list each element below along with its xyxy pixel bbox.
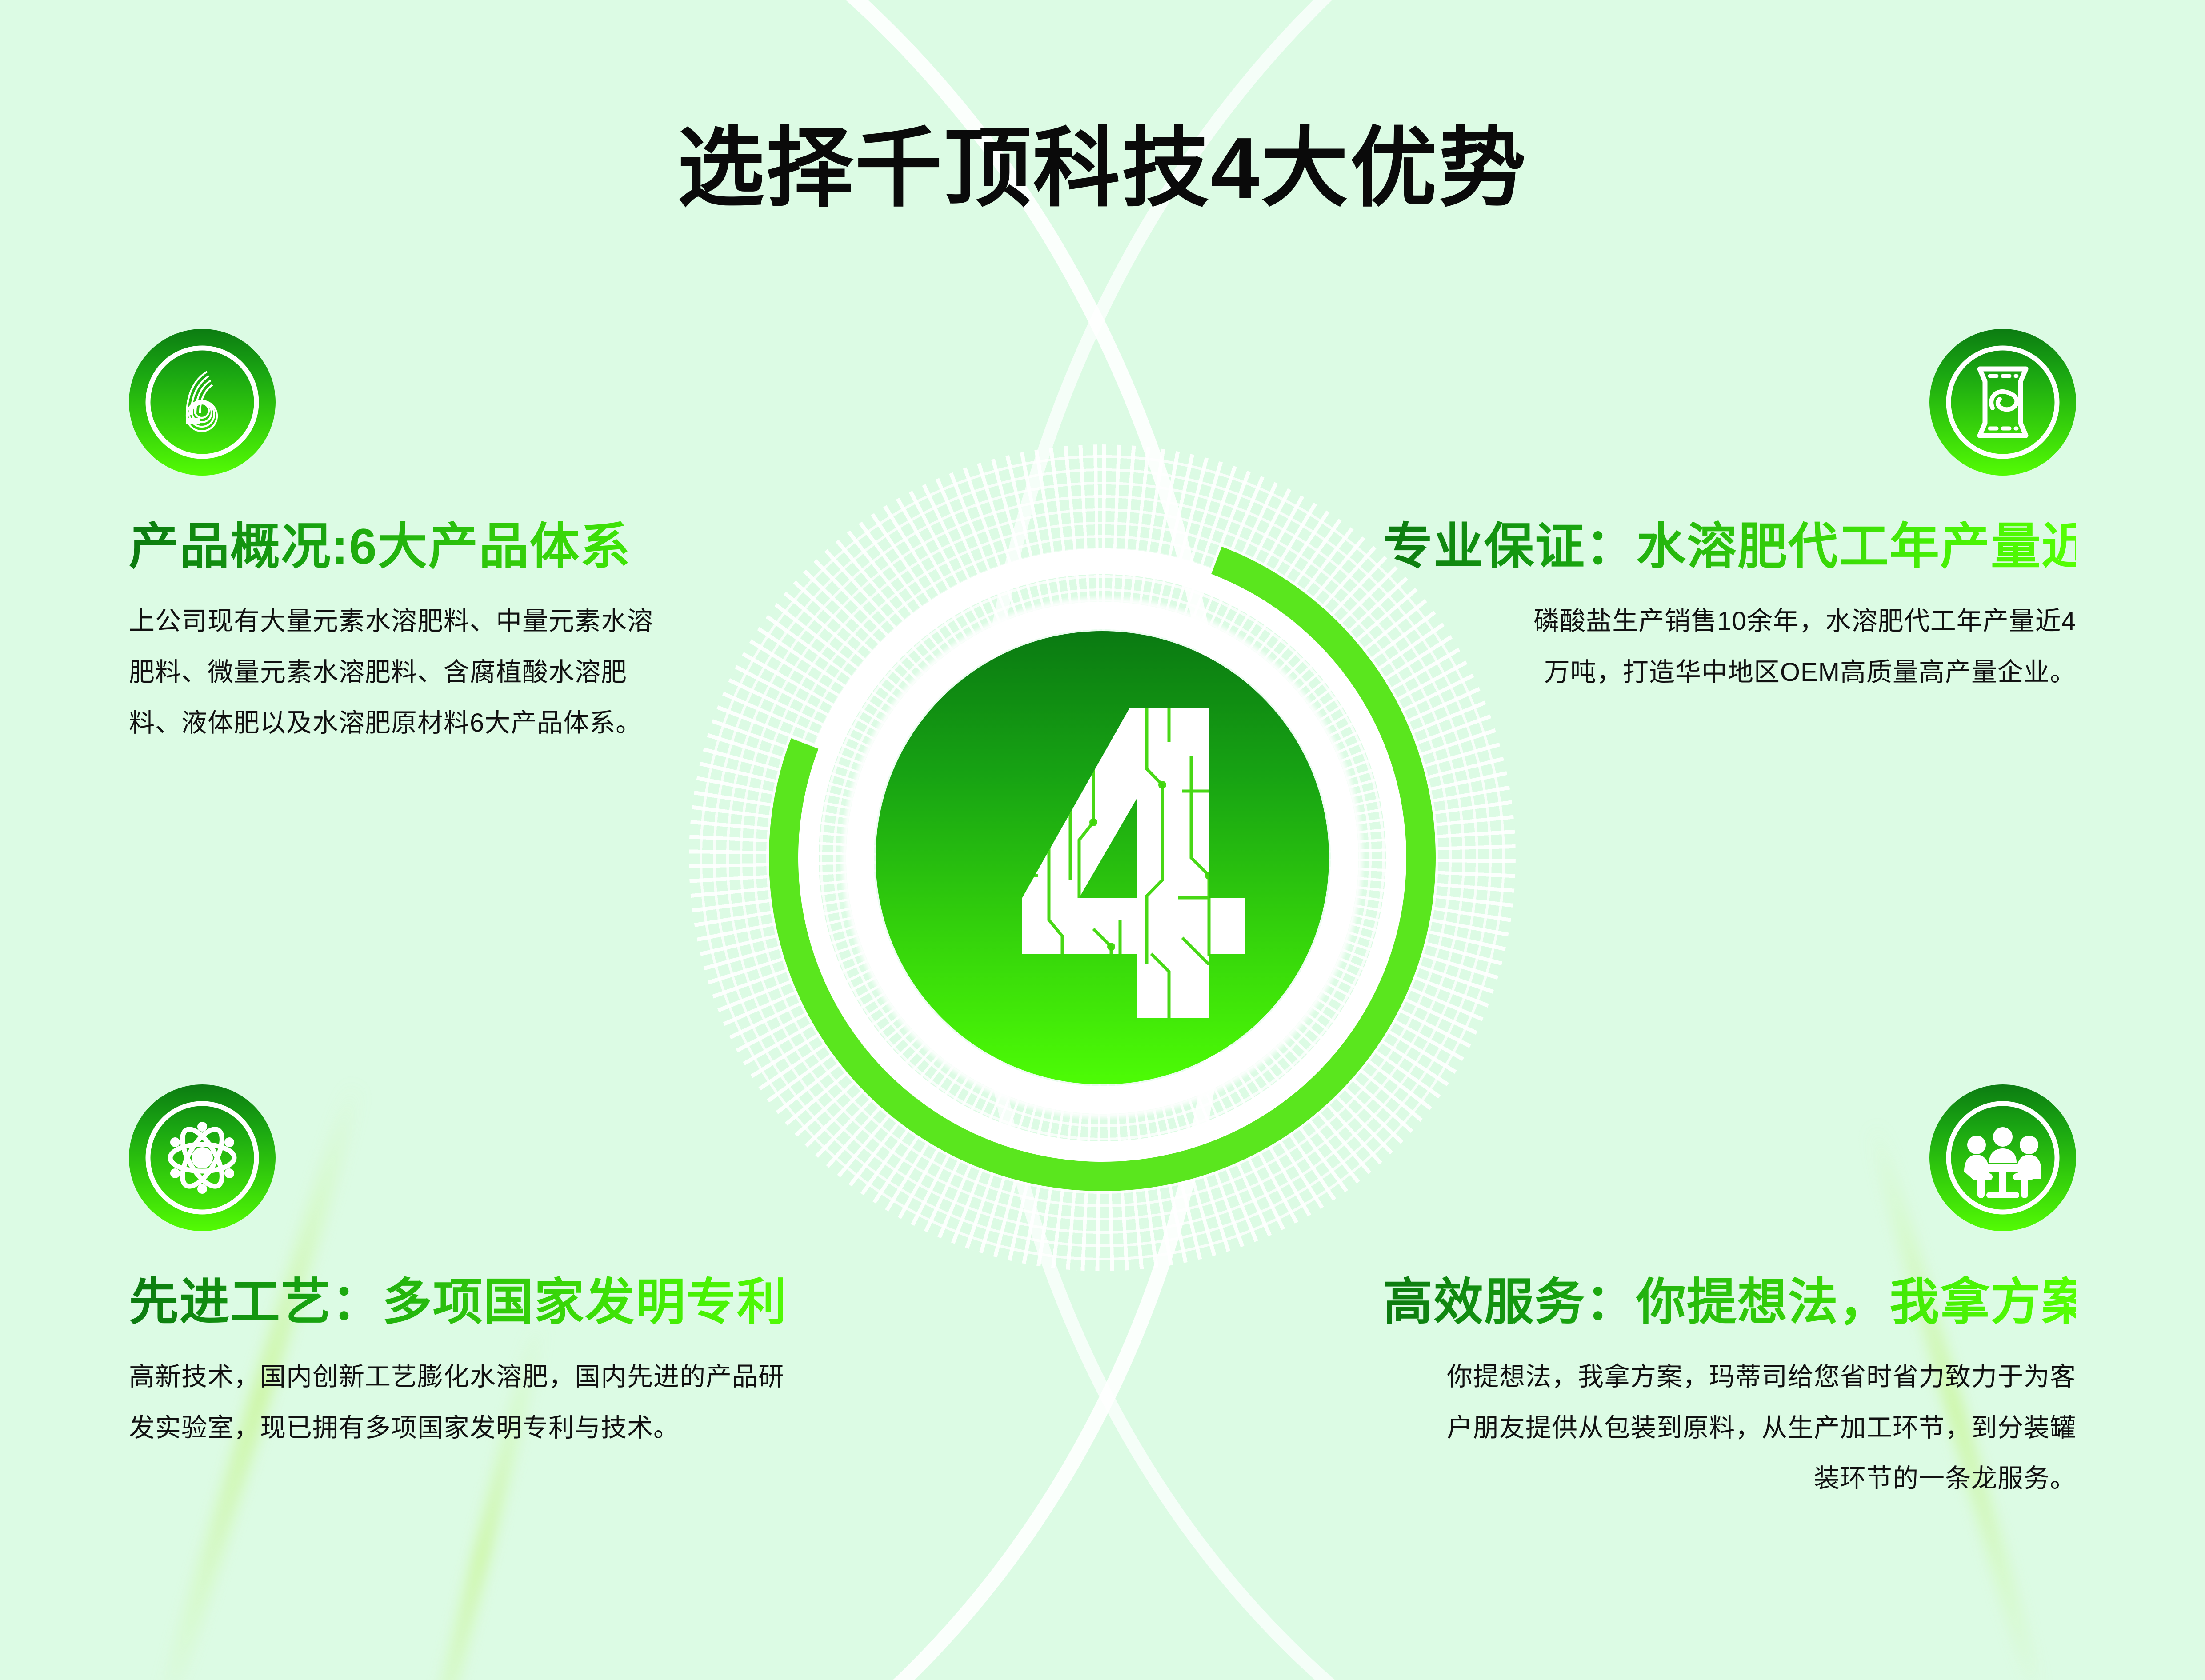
advantage-card-service: 高效服务：你提想法，我拿方案 你提想法，我拿方案，玛蒂司给您省时省力致力于为客户… xyxy=(1383,1084,2076,1504)
advantage-body: 上公司现有大量元素水溶肥料、中量元素水溶肥料、微量元素水溶肥料、含腐植酸水溶肥料… xyxy=(129,596,676,749)
fertilizer-bag-icon xyxy=(1929,329,2076,476)
advantage-card-technology: 先进工艺：多项国家发明专利 高新技术，国内创新工艺膨化水溶肥，国内先进的产品研发… xyxy=(129,1084,822,1453)
advantage-body: 磷酸盐生产销售10余年，水溶肥代工年产量近4万吨，打造华中地区OEM高质量高产量… xyxy=(1529,596,2076,698)
number-six-rings-icon xyxy=(129,329,276,476)
advantage-card-product-overview: 产品概况:6大产品体系 上公司现有大量元素水溶肥料、中量元素水溶肥料、微量元素水… xyxy=(129,329,822,749)
advantage-card-capacity: 专业保证：水溶肥代工年产量近4万吨 磷酸盐生产销售10余年，水溶肥代工年产量近4… xyxy=(1383,329,2076,698)
advantage-heading: 专业保证：水溶肥代工年产量近4万吨 xyxy=(1383,518,2076,576)
advantage-body: 你提想法，我拿方案，玛蒂司给您省时省力致力于为客户朋友提供从包装到原料，从生产加… xyxy=(1432,1352,2076,1504)
center-circle xyxy=(876,631,1329,1084)
meeting-people-icon xyxy=(1929,1084,2076,1231)
advantage-heading: 先进工艺：多项国家发明专利 xyxy=(129,1274,822,1331)
advantage-heading: 产品概况:6大产品体系 xyxy=(129,518,822,576)
advantage-heading: 高效服务：你提想法，我拿方案 xyxy=(1383,1274,2076,1331)
center-number-four-icon xyxy=(960,689,1245,1027)
atom-icon xyxy=(129,1084,276,1231)
page-title: 选择千顶科技4大优势 xyxy=(677,98,1528,224)
advantage-body: 高新技术，国内创新工艺膨化水溶肥，国内先进的产品研发实验室，现已拥有多项国家发明… xyxy=(129,1352,787,1454)
